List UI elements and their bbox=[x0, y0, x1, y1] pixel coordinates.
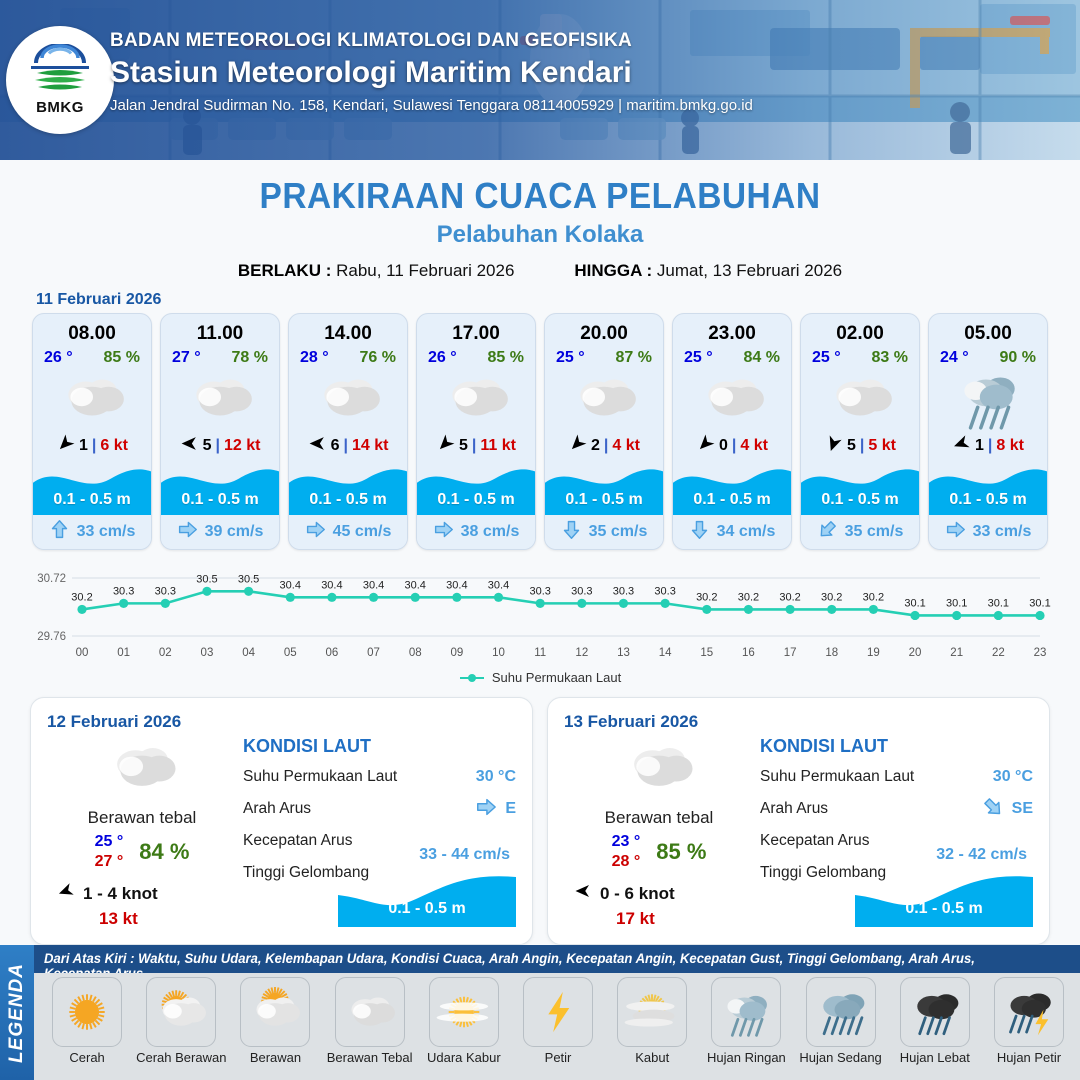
card-time: 23.00 bbox=[673, 314, 791, 345]
legend-item: Berawan Tebal bbox=[323, 977, 417, 1080]
daily-wave-graphic: 0.1 - 0.5 m bbox=[338, 869, 516, 927]
svg-text:00: 00 bbox=[76, 647, 89, 659]
station-address: Jalan Jendral Sudirman No. 158, Kendari,… bbox=[110, 97, 753, 114]
card-wind: 0 | 4 kt bbox=[673, 429, 791, 463]
legend-item-label: Hujan Sedang bbox=[799, 1050, 881, 1065]
svg-text:30.2: 30.2 bbox=[863, 591, 884, 603]
legend-item-label: Cerah bbox=[69, 1050, 104, 1065]
svg-text:06: 06 bbox=[326, 647, 339, 659]
sea-condition-value-text: 30 °C bbox=[993, 768, 1033, 786]
wind-direction-arrow-icon bbox=[952, 434, 971, 458]
daily-panel: 13 Februari 2026 Berawan tebal 23 ° 28 °… bbox=[547, 697, 1050, 945]
wind-direction-arrow-icon bbox=[436, 434, 455, 458]
page-title: PRAKIRAAN CUACA PELABUHAN bbox=[38, 175, 1042, 217]
card-wind-speed: 2 bbox=[591, 437, 600, 455]
card-temperature: 27 ° bbox=[172, 349, 201, 367]
svg-text:30.3: 30.3 bbox=[113, 585, 134, 597]
wind-direction-arrow-icon bbox=[180, 434, 199, 458]
svg-text:15: 15 bbox=[700, 647, 713, 659]
card-wind-speed: 5 bbox=[847, 437, 856, 455]
card-current: 38 cm/s bbox=[417, 515, 535, 549]
daily-gust: 17 kt bbox=[564, 909, 754, 929]
current-direction-arrow-icon bbox=[982, 796, 1004, 823]
card-current-speed: 34 cm/s bbox=[717, 523, 776, 541]
legend-item: Kabut bbox=[605, 977, 699, 1080]
legend-item: Hujan Ringan bbox=[699, 977, 793, 1080]
wind-direction-arrow-icon bbox=[568, 434, 587, 458]
card-temperature: 28 ° bbox=[300, 349, 329, 367]
svg-text:30.3: 30.3 bbox=[155, 585, 176, 597]
daily-temp-range: 23 ° 28 ° bbox=[612, 832, 641, 872]
svg-text:14: 14 bbox=[659, 647, 672, 659]
current-direction-arrow-icon bbox=[177, 519, 198, 545]
legend-section: LEGENDA Dari Atas Kiri : Waktu, Suhu Uda… bbox=[0, 945, 1080, 1080]
card-humidity: 85 % bbox=[488, 349, 524, 367]
svg-text:19: 19 bbox=[867, 647, 880, 659]
card-wind: 5 | 5 kt bbox=[801, 429, 919, 463]
svg-text:18: 18 bbox=[825, 647, 838, 659]
card-wind-speed: 0 bbox=[719, 437, 728, 455]
daily-condition: Berawan tebal bbox=[564, 808, 754, 828]
svg-text:05: 05 bbox=[284, 647, 297, 659]
legend-icon-cerah-berawan-icon bbox=[146, 977, 216, 1047]
daily-temp-min: 25 ° bbox=[95, 832, 124, 852]
card-wind: 2 | 4 kt bbox=[545, 429, 663, 463]
svg-text:09: 09 bbox=[450, 647, 463, 659]
svg-text:03: 03 bbox=[201, 647, 214, 659]
legend-item: Cerah bbox=[40, 977, 134, 1080]
card-humidity: 84 % bbox=[744, 349, 780, 367]
card-wind-speed: 5 bbox=[459, 437, 468, 455]
valid-to-label: HINGGA : bbox=[574, 261, 652, 280]
current-direction-arrow-icon bbox=[49, 519, 70, 545]
validity-row: BERLAKU : Rabu, 11 Februari 2026 HINGGA … bbox=[0, 261, 1080, 281]
card-time: 02.00 bbox=[801, 314, 919, 345]
sea-condition-value-text: 30 °C bbox=[476, 768, 516, 786]
wind-direction-arrow-icon bbox=[56, 434, 75, 458]
sea-condition-label: Kecepatan Arus bbox=[760, 832, 869, 850]
legend-icon-hujan-petir-icon bbox=[994, 977, 1064, 1047]
svg-text:30.5: 30.5 bbox=[196, 573, 217, 585]
daily-wave-graphic: 0.1 - 0.5 m bbox=[855, 869, 1033, 927]
legend-icon-cerah-icon bbox=[52, 977, 122, 1047]
card-gust: 4 kt bbox=[612, 437, 640, 455]
card-wave-zone: 0.1 - 0.5 m bbox=[161, 463, 279, 515]
card-temperature: 26 ° bbox=[44, 349, 73, 367]
legend-item-label: Udara Kabur bbox=[427, 1050, 501, 1065]
card-separator: | bbox=[215, 437, 219, 455]
sst-chart: 30.7229.7630.20030.30130.30230.50330.504… bbox=[26, 564, 1054, 664]
legend-icon-berawan-tebal-icon bbox=[335, 977, 405, 1047]
sea-condition-row: Arah Arus SE bbox=[760, 793, 1033, 825]
svg-text:01: 01 bbox=[117, 647, 130, 659]
legend-tab-label: LEGENDA bbox=[6, 963, 28, 1063]
sea-conditions-title: KONDISI LAUT bbox=[243, 736, 516, 757]
sea-condition-label: Kecepatan Arus bbox=[243, 832, 352, 850]
daily-temps: 25 ° 27 ° 84 % bbox=[47, 832, 237, 872]
daily-current-speed: 33 - 44 cm/s bbox=[419, 846, 510, 864]
svg-text:30.1: 30.1 bbox=[988, 597, 1009, 609]
legend-icon-kabut-icon bbox=[617, 977, 687, 1047]
svg-text:30.2: 30.2 bbox=[696, 591, 717, 603]
svg-text:16: 16 bbox=[742, 647, 755, 659]
card-wind-speed: 5 bbox=[203, 437, 212, 455]
card-separator: | bbox=[860, 437, 864, 455]
card-temp-hum: 26 ° 85 % bbox=[417, 345, 535, 367]
legend-item: Berawan bbox=[228, 977, 322, 1080]
legend-item-label: Hujan Petir bbox=[997, 1050, 1061, 1065]
card-temp-hum: 25 ° 87 % bbox=[545, 345, 663, 367]
svg-text:30.1: 30.1 bbox=[904, 597, 925, 609]
daily-humidity: 85 % bbox=[656, 839, 706, 865]
card-wind: 5 | 11 kt bbox=[417, 429, 535, 463]
card-temperature: 24 ° bbox=[940, 349, 969, 367]
card-separator: | bbox=[343, 437, 347, 455]
svg-text:04: 04 bbox=[242, 647, 255, 659]
svg-text:11: 11 bbox=[534, 647, 546, 659]
card-current-speed: 33 cm/s bbox=[77, 523, 136, 541]
hourly-card: 11.00 27 ° 78 % 5 | 12 kt 0.1 - 0.5 m 39… bbox=[160, 313, 280, 550]
card-wave-zone: 0.1 - 0.5 m bbox=[417, 463, 535, 515]
card-wind: 1 | 8 kt bbox=[929, 429, 1047, 463]
valid-to: HINGGA : Jumat, 13 Februari 2026 bbox=[574, 261, 842, 281]
legend-item-label: Berawan bbox=[250, 1050, 301, 1065]
svg-text:07: 07 bbox=[367, 647, 380, 659]
sea-condition-label: Arah Arus bbox=[243, 800, 311, 818]
card-humidity: 83 % bbox=[872, 349, 908, 367]
legend-icon-berawan-icon bbox=[240, 977, 310, 1047]
svg-text:10: 10 bbox=[492, 647, 505, 659]
card-current-speed: 35 cm/s bbox=[845, 523, 904, 541]
legend-item: Hujan Petir bbox=[982, 977, 1076, 1080]
sea-condition-row: Suhu Permukaan Laut 30 °C bbox=[243, 761, 516, 793]
card-separator: | bbox=[472, 437, 476, 455]
card-wind-speed: 1 bbox=[79, 437, 88, 455]
card-wave-zone: 0.1 - 0.5 m bbox=[33, 463, 151, 515]
chart-legend-label: Suhu Permukaan Laut bbox=[492, 670, 621, 685]
legend-icon-hujan-lebat-icon bbox=[900, 977, 970, 1047]
hourly-card: 20.00 25 ° 87 % 2 | 4 kt 0.1 - 0.5 m 35 … bbox=[544, 313, 664, 550]
svg-text:30.2: 30.2 bbox=[738, 591, 759, 603]
current-direction-arrow-icon bbox=[817, 519, 838, 545]
card-current-speed: 33 cm/s bbox=[973, 523, 1032, 541]
card-weather-icon bbox=[161, 367, 279, 429]
card-wind: 5 | 12 kt bbox=[161, 429, 279, 463]
card-temperature: 25 ° bbox=[812, 349, 841, 367]
legend-item: Hujan Sedang bbox=[794, 977, 888, 1080]
current-direction-arrow-icon bbox=[689, 519, 710, 545]
header-text-block: BADAN METEOROLOGI KLIMATOLOGI DAN GEOFIS… bbox=[110, 30, 753, 114]
current-direction-arrow-icon bbox=[475, 796, 497, 823]
svg-text:30.3: 30.3 bbox=[529, 585, 550, 597]
legend-icon-hujan-ringan-icon bbox=[711, 977, 781, 1047]
card-temp-hum: 25 ° 84 % bbox=[673, 345, 791, 367]
card-time: 14.00 bbox=[289, 314, 407, 345]
card-wave-height: 0.1 - 0.5 m bbox=[161, 491, 279, 509]
daily-wind-speed: 0 - 6 knot bbox=[600, 884, 675, 904]
svg-text:30.3: 30.3 bbox=[571, 585, 592, 597]
hourly-card: 08.00 26 ° 85 % 1 | 6 kt 0.1 - 0.5 m 33 … bbox=[32, 313, 152, 550]
legend-icon-petir-icon bbox=[523, 977, 593, 1047]
daily-temp-max: 27 ° bbox=[95, 852, 124, 872]
hourly-date-label: 11 Februari 2026 bbox=[36, 291, 1080, 309]
wind-direction-arrow-icon bbox=[574, 882, 592, 905]
card-humidity: 85 % bbox=[104, 349, 140, 367]
sea-condition-row: Suhu Permukaan Laut 30 °C bbox=[760, 761, 1033, 793]
card-wave-height: 0.1 - 0.5 m bbox=[673, 491, 791, 509]
hourly-card: 02.00 25 ° 83 % 5 | 5 kt 0.1 - 0.5 m 35 … bbox=[800, 313, 920, 550]
daily-date: 12 Februari 2026 bbox=[47, 712, 516, 732]
daily-wind: 0 - 6 knot bbox=[564, 882, 754, 905]
card-current: 33 cm/s bbox=[33, 515, 151, 549]
daily-left: Berawan tebal 23 ° 28 ° 85 % 0 - 6 knot … bbox=[564, 736, 754, 929]
card-weather-icon bbox=[33, 367, 151, 429]
bmkg-logo-mark bbox=[27, 44, 93, 98]
card-gust: 11 kt bbox=[480, 437, 516, 455]
card-wind-speed: 6 bbox=[331, 437, 340, 455]
svg-text:30.4: 30.4 bbox=[405, 579, 426, 591]
sea-condition-value: SE bbox=[982, 796, 1033, 823]
daily-temps: 23 ° 28 ° 85 % bbox=[564, 832, 754, 872]
current-direction-arrow-icon bbox=[561, 519, 582, 545]
card-humidity: 76 % bbox=[360, 349, 396, 367]
hourly-card: 23.00 25 ° 84 % 0 | 4 kt 0.1 - 0.5 m 34 … bbox=[672, 313, 792, 550]
card-wave-zone: 0.1 - 0.5 m bbox=[929, 463, 1047, 515]
daily-temp-max: 28 ° bbox=[612, 852, 641, 872]
svg-text:30.4: 30.4 bbox=[280, 579, 301, 591]
daily-forecast-panels: 12 Februari 2026 Berawan tebal 25 ° 27 °… bbox=[0, 685, 1080, 945]
bmkg-logo: BMKG bbox=[6, 26, 114, 134]
card-current: 35 cm/s bbox=[801, 515, 919, 549]
legend-item-label: Hujan Lebat bbox=[900, 1050, 970, 1065]
card-weather-icon bbox=[289, 367, 407, 429]
card-weather-icon bbox=[673, 367, 791, 429]
legend-item: Hujan Lebat bbox=[888, 977, 982, 1080]
hourly-forecast-cards: 08.00 26 ° 85 % 1 | 6 kt 0.1 - 0.5 m 33 … bbox=[0, 313, 1080, 550]
card-wave-zone: 0.1 - 0.5 m bbox=[673, 463, 791, 515]
valid-from-label: BERLAKU : bbox=[238, 261, 332, 280]
svg-text:30.3: 30.3 bbox=[613, 585, 634, 597]
svg-text:22: 22 bbox=[992, 647, 1005, 659]
card-separator: | bbox=[988, 437, 992, 455]
legend-icon-strip: Cerah Cerah Berawan Berawan Berawan Teba… bbox=[34, 973, 1080, 1080]
valid-to-value: Jumat, 13 Februari 2026 bbox=[657, 261, 842, 280]
card-gust: 14 kt bbox=[352, 437, 388, 455]
wind-direction-arrow-icon bbox=[308, 434, 327, 458]
daily-temp-range: 25 ° 27 ° bbox=[95, 832, 124, 872]
card-weather-icon bbox=[417, 367, 535, 429]
card-wave-zone: 0.1 - 0.5 m bbox=[289, 463, 407, 515]
hourly-card: 05.00 24 ° 90 % 1 | 8 kt 0.1 - 0.5 m bbox=[928, 313, 1048, 550]
svg-text:02: 02 bbox=[159, 647, 172, 659]
card-gust: 6 kt bbox=[100, 437, 128, 455]
card-weather-icon bbox=[545, 367, 663, 429]
wind-direction-arrow-icon bbox=[824, 434, 843, 458]
svg-text:30.4: 30.4 bbox=[321, 579, 342, 591]
daily-weather-icon bbox=[47, 736, 237, 798]
card-wave-height: 0.1 - 0.5 m bbox=[417, 491, 535, 509]
card-separator: | bbox=[732, 437, 736, 455]
chart-legend: Suhu Permukaan Laut bbox=[0, 670, 1080, 685]
daily-grid: Berawan tebal 25 ° 27 ° 84 % 1 - 4 knot … bbox=[47, 736, 516, 929]
daily-humidity: 84 % bbox=[139, 839, 189, 865]
daily-wind-speed: 1 - 4 knot bbox=[83, 884, 158, 904]
card-humidity: 87 % bbox=[616, 349, 652, 367]
sea-condition-label: Suhu Permukaan Laut bbox=[243, 768, 397, 786]
svg-text:30.1: 30.1 bbox=[1029, 597, 1050, 609]
daily-wind: 1 - 4 knot bbox=[47, 882, 237, 905]
card-humidity: 78 % bbox=[232, 349, 268, 367]
svg-text:13: 13 bbox=[617, 647, 630, 659]
daily-current-speed: 32 - 42 cm/s bbox=[936, 846, 1027, 864]
valid-from: BERLAKU : Rabu, 11 Februari 2026 bbox=[238, 261, 515, 281]
svg-text:30.2: 30.2 bbox=[71, 591, 92, 603]
card-temperature: 25 ° bbox=[684, 349, 713, 367]
daily-date: 13 Februari 2026 bbox=[564, 712, 1033, 732]
svg-text:21: 21 bbox=[950, 647, 963, 659]
svg-text:30.1: 30.1 bbox=[946, 597, 967, 609]
card-temp-hum: 27 ° 78 % bbox=[161, 345, 279, 367]
hourly-card: 17.00 26 ° 85 % 5 | 11 kt 0.1 - 0.5 m 38… bbox=[416, 313, 536, 550]
svg-text:30.4: 30.4 bbox=[363, 579, 384, 591]
card-wave-zone: 0.1 - 0.5 m bbox=[801, 463, 919, 515]
sea-condition-value-text: SE bbox=[1012, 800, 1033, 818]
card-temp-hum: 26 ° 85 % bbox=[33, 345, 151, 367]
svg-text:30.5: 30.5 bbox=[238, 573, 259, 585]
sea-condition-label: Suhu Permukaan Laut bbox=[760, 768, 914, 786]
daily-right: KONDISI LAUT Suhu Permukaan Laut 30 °C A… bbox=[754, 736, 1033, 929]
card-wind: 1 | 6 kt bbox=[33, 429, 151, 463]
sea-condition-value: 30 °C bbox=[993, 768, 1033, 786]
card-temp-hum: 28 ° 76 % bbox=[289, 345, 407, 367]
card-wave-height: 0.1 - 0.5 m bbox=[33, 491, 151, 509]
svg-text:30.3: 30.3 bbox=[654, 585, 675, 597]
card-time: 08.00 bbox=[33, 314, 151, 345]
card-wave-height: 0.1 - 0.5 m bbox=[801, 491, 919, 509]
card-wave-height: 0.1 - 0.5 m bbox=[289, 491, 407, 509]
card-weather-icon bbox=[801, 367, 919, 429]
card-current-speed: 35 cm/s bbox=[589, 523, 648, 541]
sst-chart-svg: 30.7229.7630.20030.30130.30230.50330.504… bbox=[26, 564, 1054, 664]
legend-item-label: Petir bbox=[545, 1050, 572, 1065]
card-wave-height: 0.1 - 0.5 m bbox=[545, 491, 663, 509]
card-weather-icon bbox=[929, 367, 1047, 429]
card-temp-hum: 25 ° 83 % bbox=[801, 345, 919, 367]
svg-text:30.4: 30.4 bbox=[488, 579, 509, 591]
legend-item-label: Kabut bbox=[635, 1050, 669, 1065]
sea-condition-row: Arah Arus E bbox=[243, 793, 516, 825]
bmkg-logo-text: BMKG bbox=[36, 99, 84, 116]
card-time: 20.00 bbox=[545, 314, 663, 345]
card-current: 34 cm/s bbox=[673, 515, 791, 549]
sea-condition-value: 30 °C bbox=[476, 768, 516, 786]
legend-item: Cerah Berawan bbox=[134, 977, 228, 1080]
card-gust: 4 kt bbox=[740, 437, 768, 455]
legend-item-label: Cerah Berawan bbox=[136, 1050, 226, 1065]
station-name: Stasiun Meteorologi Maritim Kendari bbox=[110, 56, 753, 90]
daily-panel: 12 Februari 2026 Berawan tebal 25 ° 27 °… bbox=[30, 697, 533, 945]
current-direction-arrow-icon bbox=[945, 519, 966, 545]
svg-text:12: 12 bbox=[575, 647, 588, 659]
legend-icon-udara-kabur-icon bbox=[429, 977, 499, 1047]
sea-condition-value: E bbox=[475, 796, 516, 823]
card-humidity: 90 % bbox=[1000, 349, 1036, 367]
daily-wave-height: 0.1 - 0.5 m bbox=[338, 900, 516, 918]
card-separator: | bbox=[604, 437, 608, 455]
card-current: 35 cm/s bbox=[545, 515, 663, 549]
svg-text:08: 08 bbox=[409, 647, 422, 659]
daily-left: Berawan tebal 25 ° 27 ° 84 % 1 - 4 knot … bbox=[47, 736, 237, 929]
card-time: 05.00 bbox=[929, 314, 1047, 345]
valid-from-value: Rabu, 11 Februari 2026 bbox=[336, 261, 514, 280]
sea-condition-label: Arah Arus bbox=[760, 800, 828, 818]
daily-weather-icon bbox=[564, 736, 754, 798]
card-gust: 12 kt bbox=[224, 437, 260, 455]
card-time: 11.00 bbox=[161, 314, 279, 345]
card-current-speed: 38 cm/s bbox=[461, 523, 520, 541]
card-gust: 8 kt bbox=[996, 437, 1024, 455]
wind-direction-arrow-icon bbox=[696, 434, 715, 458]
card-current: 33 cm/s bbox=[929, 515, 1047, 549]
daily-temp-min: 23 ° bbox=[612, 832, 641, 852]
sea-condition-value-text: E bbox=[505, 800, 516, 818]
chart-legend-marker bbox=[459, 673, 485, 683]
card-wave-height: 0.1 - 0.5 m bbox=[929, 491, 1047, 509]
card-current-speed: 39 cm/s bbox=[205, 523, 264, 541]
card-wind-speed: 1 bbox=[975, 437, 984, 455]
daily-right: KONDISI LAUT Suhu Permukaan Laut 30 °C A… bbox=[237, 736, 516, 929]
daily-condition: Berawan tebal bbox=[47, 808, 237, 828]
svg-text:30.2: 30.2 bbox=[821, 591, 842, 603]
legend-item: Udara Kabur bbox=[417, 977, 511, 1080]
svg-text:20: 20 bbox=[909, 647, 922, 659]
svg-text:17: 17 bbox=[784, 647, 797, 659]
sea-conditions-title: KONDISI LAUT bbox=[760, 736, 1033, 757]
svg-text:30.72: 30.72 bbox=[37, 573, 66, 585]
agency-name: BADAN METEOROLOGI KLIMATOLOGI DAN GEOFIS… bbox=[110, 30, 753, 52]
card-current: 45 cm/s bbox=[289, 515, 407, 549]
daily-grid: Berawan tebal 23 ° 28 ° 85 % 0 - 6 knot … bbox=[564, 736, 1033, 929]
legend-item-label: Berawan Tebal bbox=[327, 1050, 413, 1065]
card-gust: 5 kt bbox=[868, 437, 896, 455]
legend-item: Petir bbox=[511, 977, 605, 1080]
card-wind: 6 | 14 kt bbox=[289, 429, 407, 463]
legend-tab: LEGENDA bbox=[0, 945, 34, 1080]
page-header: BMKG BADAN METEOROLOGI KLIMATOLOGI DAN G… bbox=[0, 0, 1080, 160]
card-current-speed: 45 cm/s bbox=[333, 523, 392, 541]
card-temperature: 26 ° bbox=[428, 349, 457, 367]
current-direction-arrow-icon bbox=[305, 519, 326, 545]
hourly-card: 14.00 28 ° 76 % 6 | 14 kt 0.1 - 0.5 m 45… bbox=[288, 313, 408, 550]
card-current: 39 cm/s bbox=[161, 515, 279, 549]
card-time: 17.00 bbox=[417, 314, 535, 345]
card-separator: | bbox=[92, 437, 96, 455]
svg-text:30.2: 30.2 bbox=[779, 591, 800, 603]
svg-text:29.76: 29.76 bbox=[37, 631, 66, 643]
svg-text:30.4: 30.4 bbox=[446, 579, 467, 591]
legend-icon-hujan-sedang-icon bbox=[806, 977, 876, 1047]
legend-item-label: Hujan Ringan bbox=[707, 1050, 786, 1065]
daily-wave-height: 0.1 - 0.5 m bbox=[855, 900, 1033, 918]
card-wave-zone: 0.1 - 0.5 m bbox=[545, 463, 663, 515]
current-direction-arrow-icon bbox=[433, 519, 454, 545]
title-block: PRAKIRAAN CUACA PELABUHAN Pelabuhan Kola… bbox=[0, 160, 1080, 281]
card-temperature: 25 ° bbox=[556, 349, 585, 367]
wind-direction-arrow-icon bbox=[57, 882, 75, 905]
daily-gust: 13 kt bbox=[47, 909, 237, 929]
page-subtitle: Pelabuhan Kolaka bbox=[0, 221, 1080, 249]
svg-text:23: 23 bbox=[1034, 647, 1047, 659]
